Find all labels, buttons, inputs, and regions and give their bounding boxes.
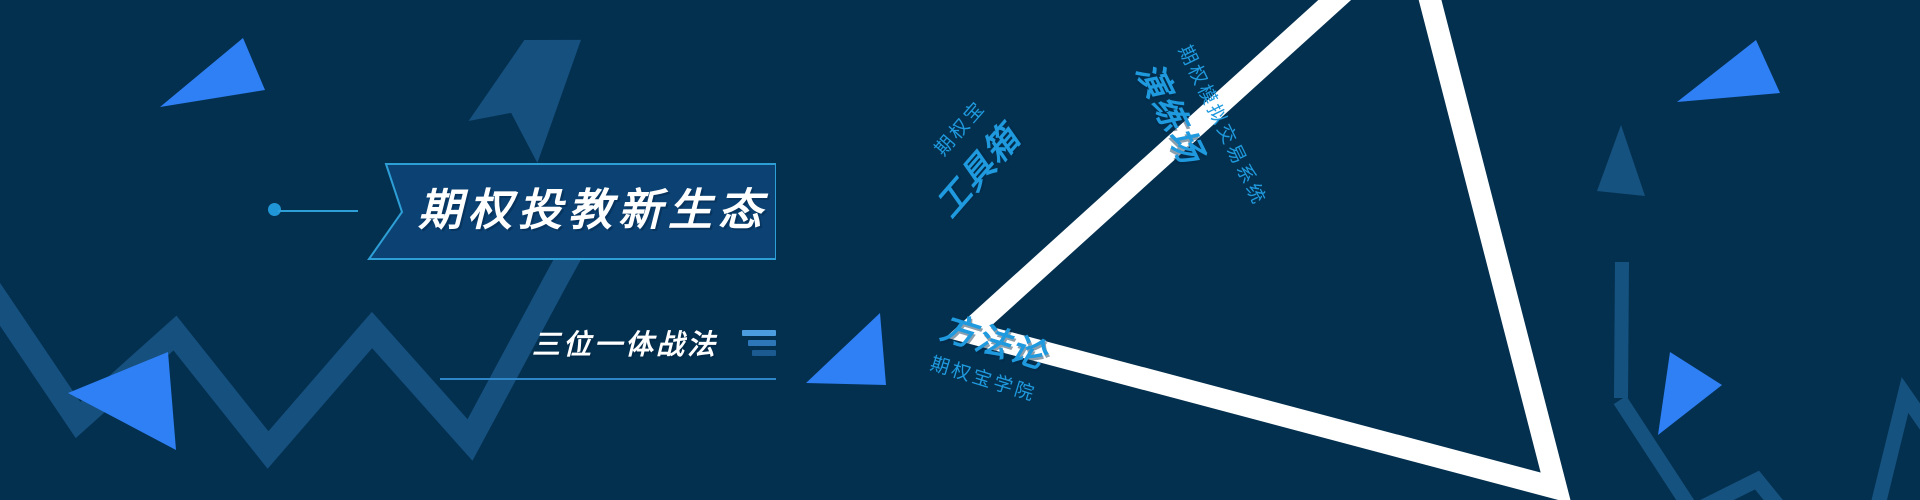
bar-2 (748, 340, 776, 346)
subtitle-row: 三位一体战法 (440, 320, 776, 366)
bar-1 (742, 330, 776, 336)
subtitle-underline (440, 378, 776, 380)
bar-3 (752, 350, 776, 356)
title-connector-line (278, 209, 358, 213)
subtitle-block: 三位一体战法 (440, 320, 776, 380)
page-title: 期权投教新生态 (418, 181, 770, 241)
title-block: 期权投教新生态 (356, 163, 776, 260)
toolbox-label: 工具箱 (922, 113, 1030, 227)
three-bars-icon (740, 330, 776, 356)
promo-banner: 期权宝 工具箱 期权模拟交易系统 演练场 方法论 期权宝学院 期权投教新生态 三… (0, 0, 1920, 500)
arena-label: 演练场 (1127, 53, 1248, 233)
arena-sublabel: 期权模拟交易系统 (1173, 40, 1274, 210)
subtitle-text: 三位一体战法 (532, 323, 718, 363)
triangle-edge-label-methodology: 方法论 期权宝学院 (927, 300, 1055, 407)
toolbox-sublabel: 期权宝 (900, 93, 991, 192)
triangle-label-layer: 期权宝 工具箱 期权模拟交易系统 演练场 方法论 期权宝学院 (0, 0, 1920, 500)
triangle-edge-label-arena: 期权模拟交易系统 演练场 (1127, 40, 1274, 232)
triangle-edge-label-toolbox: 期权宝 工具箱 (900, 93, 1030, 226)
methodology-label: 方法论 (936, 300, 1056, 379)
methodology-sublabel: 期权宝学院 (927, 349, 1040, 407)
